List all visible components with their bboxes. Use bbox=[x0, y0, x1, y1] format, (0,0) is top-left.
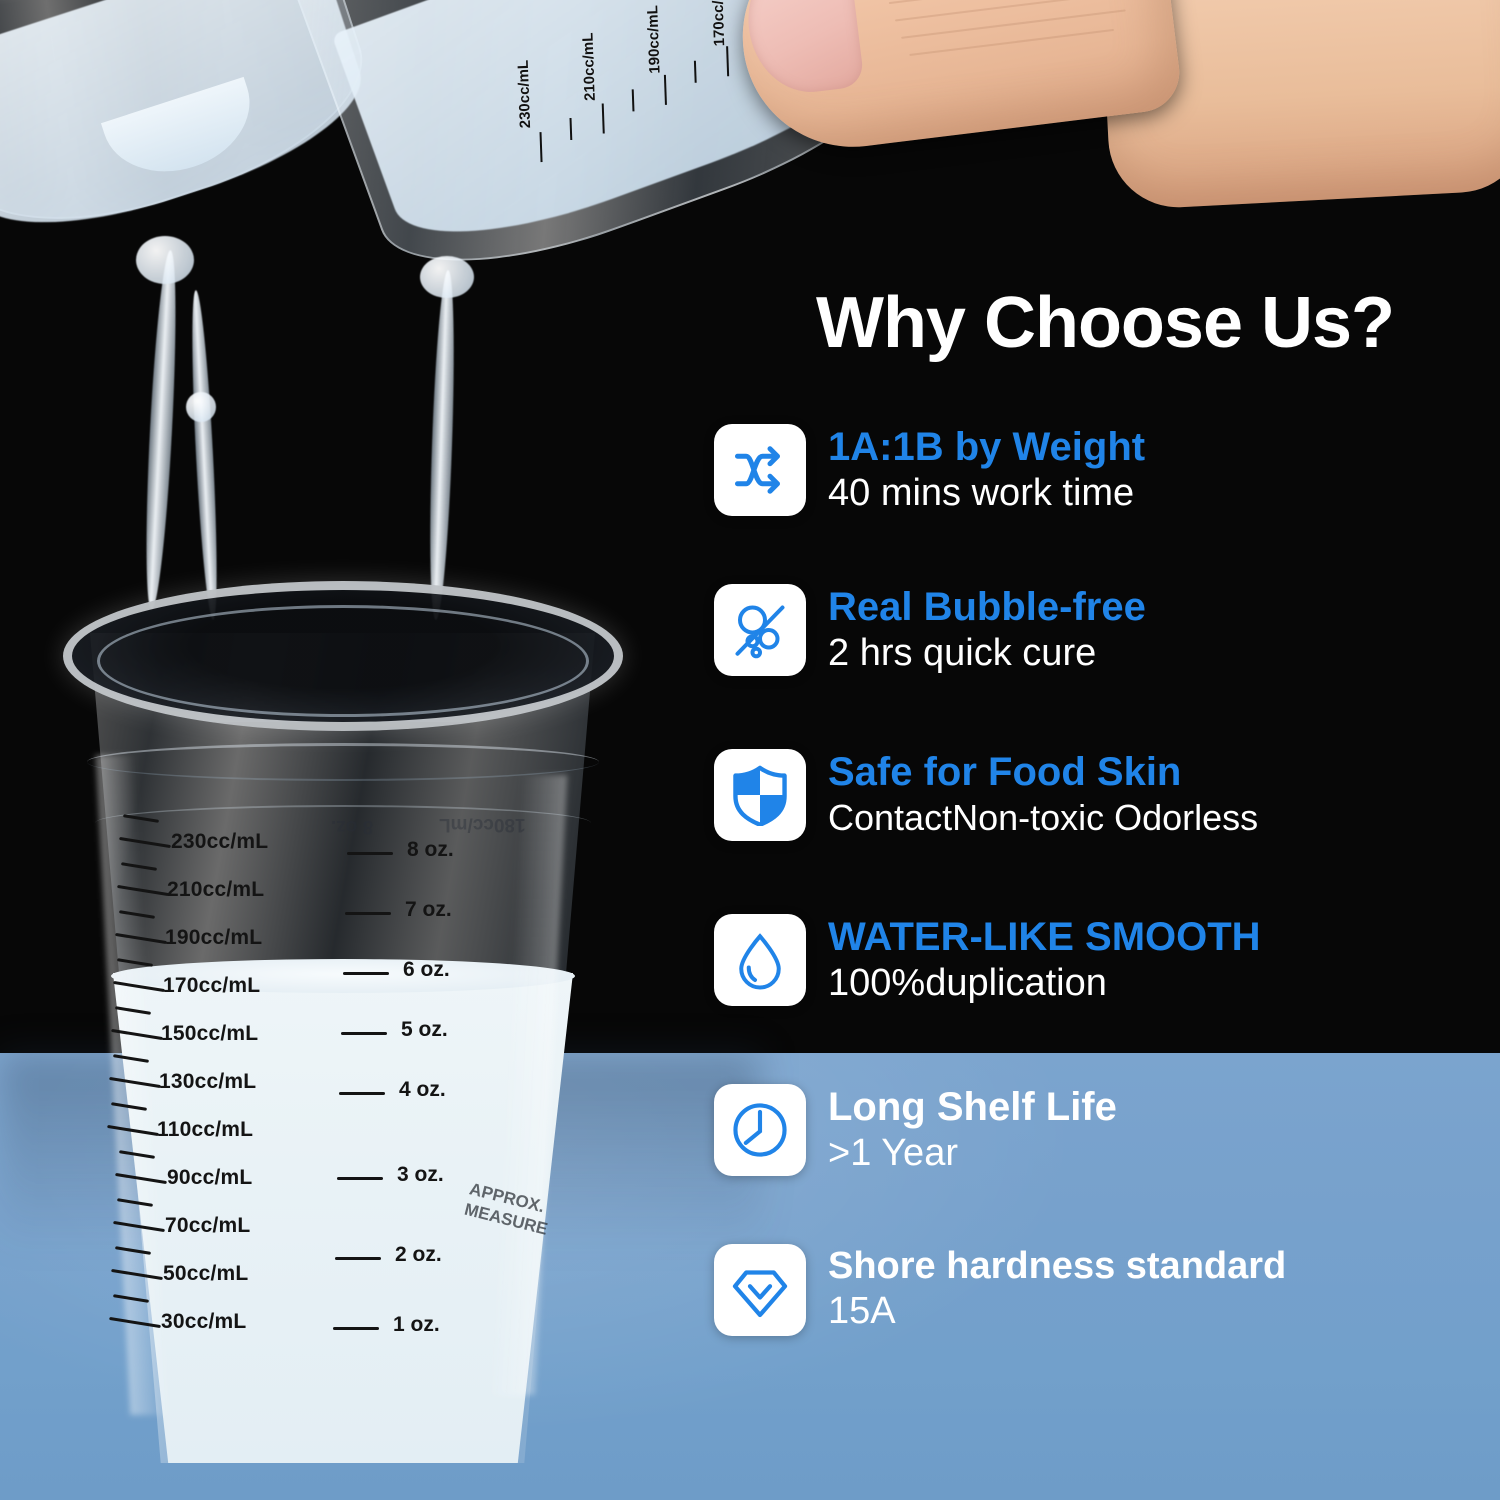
feature-subtext-2: 2 hrs quick cure bbox=[828, 632, 1146, 675]
drip-blob-a bbox=[136, 236, 194, 284]
page-title: Why Choose Us? bbox=[710, 282, 1500, 364]
oz-label-7: 1 oz. bbox=[393, 1313, 440, 1337]
drip-blob-b bbox=[420, 256, 474, 298]
diamond-icon bbox=[714, 1244, 806, 1336]
cc-label-10: 30cc/mL bbox=[161, 1310, 246, 1334]
oz-label-2: 6 oz. bbox=[403, 958, 450, 982]
oz-label-5: 3 oz. bbox=[397, 1163, 444, 1187]
feature-text-4: WATER-LIKE SMOOTH 100%duplication bbox=[828, 914, 1261, 1006]
oz-label-3: 5 oz. bbox=[401, 1018, 448, 1042]
feature-text-6: Shore hardness standard 15A bbox=[828, 1244, 1286, 1333]
feature-subtext-5: >1 Year bbox=[828, 1132, 1117, 1175]
no-bubbles-icon bbox=[714, 584, 806, 676]
feature-text-2: Real Bubble-free 2 hrs quick cure bbox=[828, 584, 1146, 676]
cc-label-4: 150cc/mL bbox=[161, 1022, 258, 1046]
feature-heading-3: Safe for Food Skin bbox=[828, 751, 1258, 794]
feature-heading-2: Real Bubble-free bbox=[828, 586, 1146, 629]
shield-icon bbox=[714, 749, 806, 841]
cc-label-5: 130cc/mL bbox=[159, 1070, 256, 1094]
feature-subtext-3: ContactNon-toxic Odorless bbox=[828, 797, 1258, 838]
feature-item-6: Shore hardness standard 15A bbox=[714, 1244, 1500, 1336]
feature-item-1: 1A:1B by Weight 40 mins work time bbox=[714, 424, 1500, 516]
oz-label-0: 8 oz. bbox=[407, 838, 454, 862]
cc-label-9: 50cc/mL bbox=[163, 1262, 248, 1286]
tilt-cc-label-0: 230cc/mL bbox=[515, 60, 534, 129]
feature-text-3: Safe for Food Skin ContactNon-toxic Odor… bbox=[828, 749, 1258, 838]
feature-item-2: Real Bubble-free 2 hrs quick cure bbox=[714, 584, 1500, 676]
feature-heading-6: Shore hardness standard bbox=[828, 1246, 1286, 1287]
cc-label-0: 230cc/mL bbox=[171, 830, 268, 854]
feature-item-5: Long Shelf Life >1 Year bbox=[714, 1084, 1500, 1176]
feature-heading-5: Long Shelf Life bbox=[828, 1086, 1117, 1129]
water-drop-icon bbox=[714, 914, 806, 1006]
infographic-canvas: 230cc/mL 210cc/mL 190cc/mL 230cc/mL 210c… bbox=[0, 0, 1500, 1500]
feature-item-4: WATER-LIKE SMOOTH 100%duplication bbox=[714, 914, 1500, 1006]
oz-label-1: 7 oz. bbox=[405, 898, 452, 922]
shuffle-arrows-icon bbox=[714, 424, 806, 516]
cup-ghost-label-1: 180cc/mL bbox=[439, 813, 526, 835]
oz-label-4: 4 oz. bbox=[399, 1078, 446, 1102]
drip-blob-c bbox=[186, 392, 216, 422]
oz-label-6: 2 oz. bbox=[395, 1243, 442, 1267]
cc-label-6: 110cc/mL bbox=[157, 1118, 253, 1142]
cc-label-2: 190cc/mL bbox=[165, 926, 262, 950]
why-choose-us-panel: Why Choose Us? 1A:1B by Weight 40 mins w… bbox=[700, 0, 1500, 1500]
clock-icon bbox=[714, 1084, 806, 1176]
tilt-cc-label-2: 190cc/mL bbox=[644, 5, 663, 74]
cup-ghost-label-0: 8 oz. bbox=[331, 815, 373, 837]
feature-item-3: Safe for Food Skin ContactNon-toxic Odor… bbox=[714, 749, 1500, 841]
feature-subtext-4: 100%duplication bbox=[828, 962, 1261, 1005]
cc-label-8: 70cc/mL bbox=[165, 1214, 250, 1238]
feature-subtext-1: 40 mins work time bbox=[828, 472, 1145, 515]
main-measuring-cup: 8 oz. 180cc/mL 230cc/mL 210cc/mL 190cc/m… bbox=[35, 575, 650, 1480]
cc-label-3: 170cc/mL bbox=[163, 974, 260, 998]
feature-heading-1: 1A:1B by Weight bbox=[828, 426, 1145, 469]
cc-label-1: 210cc/mL bbox=[167, 878, 264, 902]
feature-subtext-6: 15A bbox=[828, 1290, 1286, 1333]
cc-label-7: 90cc/mL bbox=[167, 1166, 252, 1190]
feature-heading-4: WATER-LIKE SMOOTH bbox=[828, 916, 1261, 959]
feature-text-1: 1A:1B by Weight 40 mins work time bbox=[828, 424, 1145, 516]
feature-text-5: Long Shelf Life >1 Year bbox=[828, 1084, 1117, 1176]
tilt-cc-label-1: 210cc/mL bbox=[579, 32, 598, 101]
